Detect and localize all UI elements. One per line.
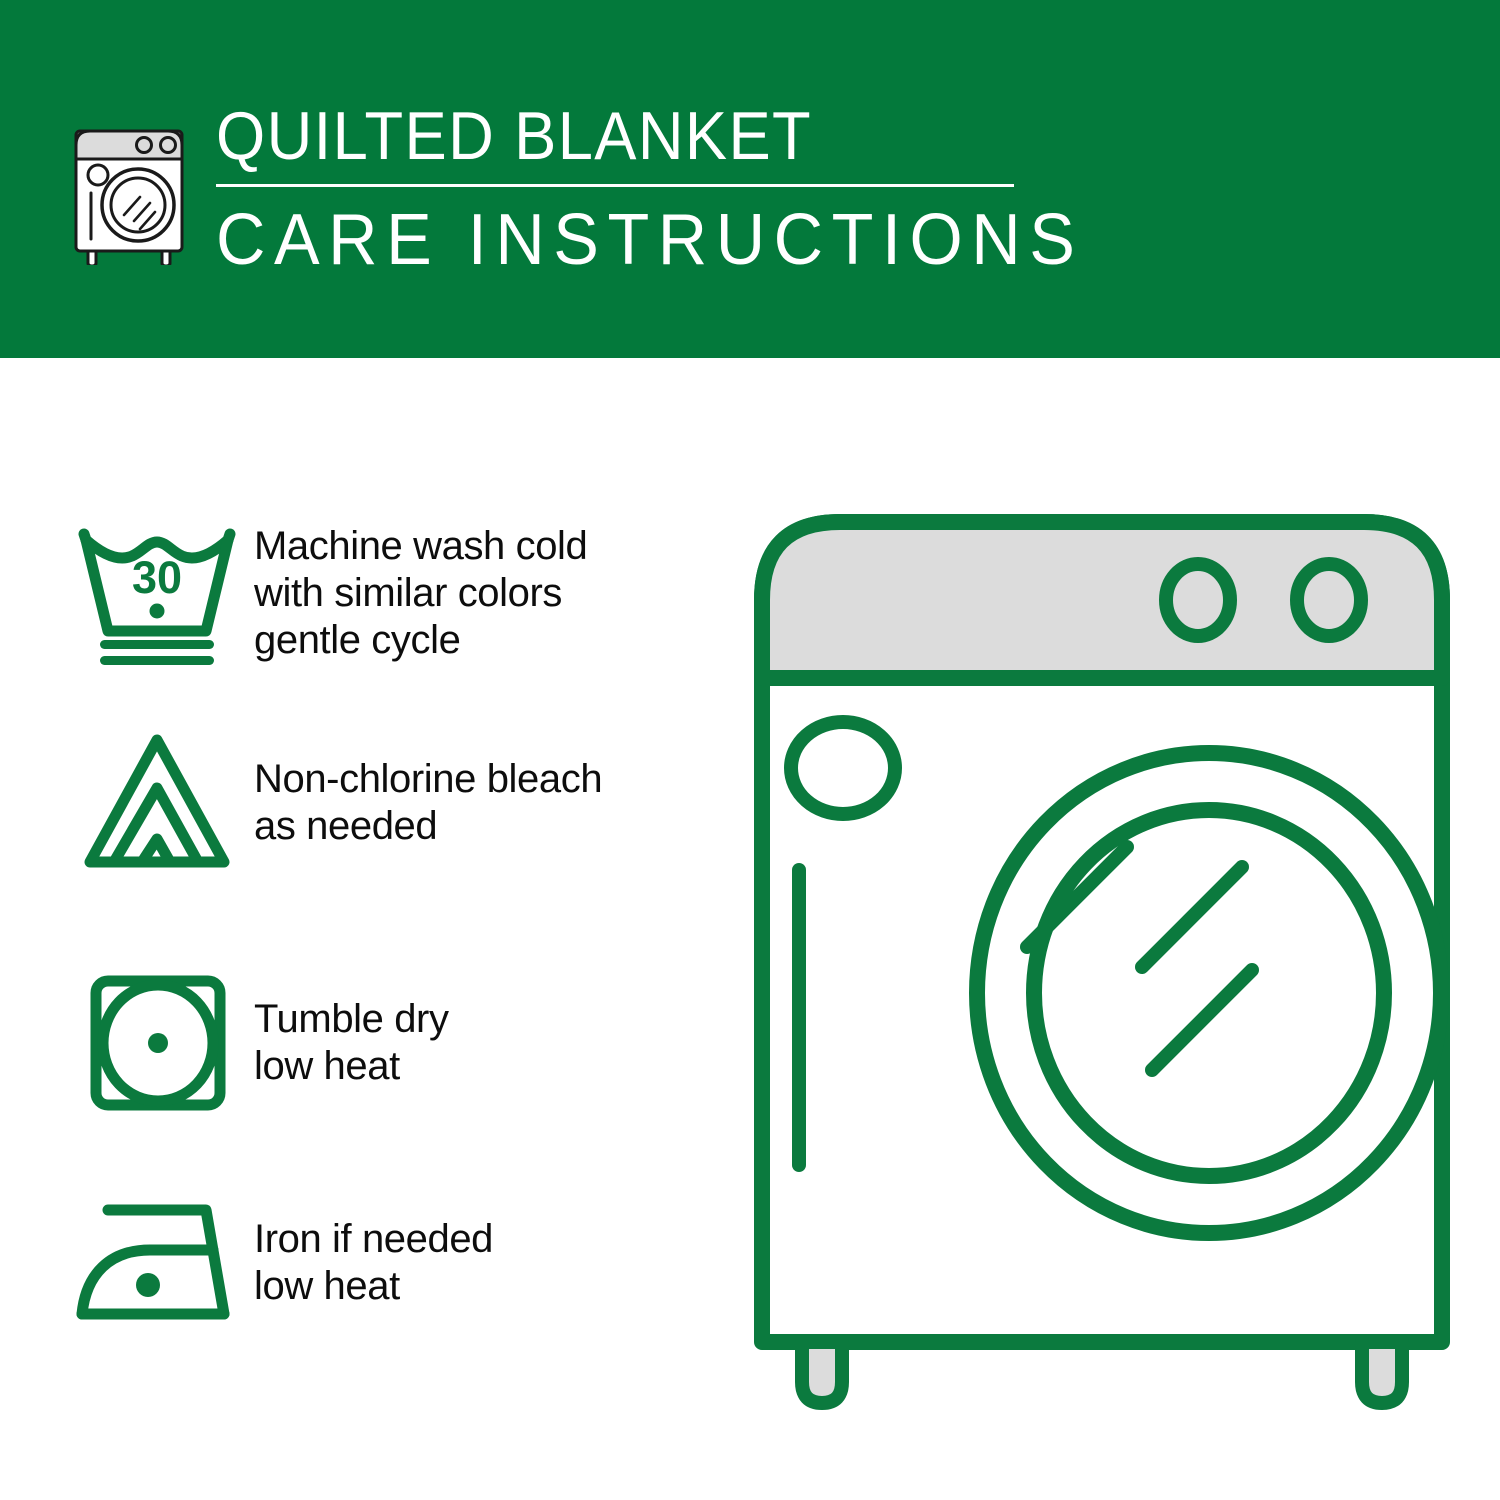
care-line: low heat [254, 1263, 493, 1310]
care-line: Machine wash cold [254, 523, 587, 570]
care-line: with similar colors [254, 570, 587, 617]
care-line: Non-chlorine bleach [254, 756, 602, 803]
iron-low-heat-icon [72, 1188, 242, 1338]
care-line: low heat [254, 1043, 449, 1090]
door-inner-ring [1034, 810, 1384, 1176]
washing-machine-icon [62, 105, 202, 265]
machine-leg [1362, 1342, 1402, 1403]
care-line: gentle cycle [254, 617, 587, 664]
header-text-block: QUILTED BLANKET CARE INSTRUCTIONS [216, 98, 1026, 281]
page-subtitle: CARE INSTRUCTIONS [216, 199, 986, 281]
care-line: as needed [254, 803, 602, 850]
title-divider [216, 184, 1014, 187]
care-row-iron: Iron if needed low heat [72, 1188, 712, 1338]
care-instruction-list: 30 Machine wash cold with similar colors… [0, 358, 730, 1500]
care-label-machine-wash: Machine wash cold with similar colors ge… [254, 523, 587, 664]
care-label-tumble-dry: Tumble dry low heat [254, 996, 449, 1090]
care-row-bleach: Non-chlorine bleach as needed [72, 728, 712, 878]
tumble-dry-low-icon [72, 968, 242, 1118]
machine-wash-30-gentle-icon: 30 [72, 518, 242, 668]
front-load-washing-machine-illustration [752, 500, 1452, 1420]
detergent-knob-icon [791, 722, 895, 814]
care-line: Iron if needed [254, 1216, 493, 1263]
page-title: QUILTED BLANKET [216, 98, 969, 174]
non-chlorine-bleach-icon [72, 728, 242, 878]
care-row-machine-wash: 30 Machine wash cold with similar colors… [72, 518, 712, 668]
care-label-bleach: Non-chlorine bleach as needed [254, 756, 602, 850]
machine-leg [802, 1342, 842, 1403]
dial-icon [1166, 564, 1230, 636]
care-row-tumble-dry: Tumble dry low heat [72, 968, 712, 1118]
wash-temperature-label: 30 [132, 552, 182, 603]
care-label-iron: Iron if needed low heat [254, 1216, 493, 1310]
header-banner: QUILTED BLANKET CARE INSTRUCTIONS [0, 0, 1500, 358]
care-line: Tumble dry [254, 996, 449, 1043]
dial-icon [1297, 564, 1361, 636]
